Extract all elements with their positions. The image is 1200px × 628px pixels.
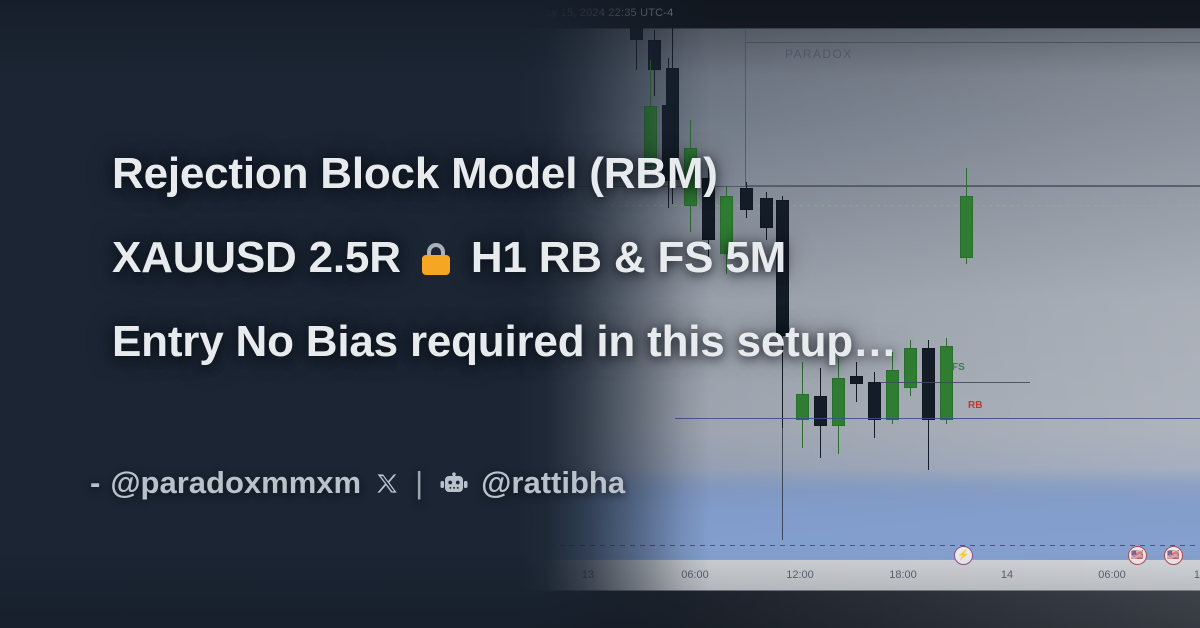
rattibha-share-card: PARADOX FS RB ⚡🇺🇸🇺🇸 1306:0012:0018:00140…: [0, 0, 1200, 628]
attribution: - @paradoxmmxm |: [90, 465, 625, 501]
headline-line-1: Rejection Block Model (RBM): [112, 132, 1172, 216]
headline-line-2-b: H1 RB & FS 5M: [471, 233, 786, 282]
text-layer: Rejection Block Model (RBM) XAUUSD 2.5R …: [0, 0, 1200, 628]
headline-line-2: XAUUSD 2.5R H1 RB & FS 5M: [112, 216, 1172, 300]
lock-body: [422, 255, 450, 275]
lock-icon: [419, 242, 453, 276]
page-title: Rejection Block Model (RBM) XAUUSD 2.5R …: [112, 132, 1172, 384]
author-handle[interactable]: @paradoxmmxm: [110, 465, 361, 501]
robot-icon: [439, 470, 469, 496]
headline-line-2-a: XAUUSD 2.5R: [112, 233, 401, 282]
attribution-dash: -: [90, 465, 100, 501]
service-handle[interactable]: @rattibha: [481, 465, 625, 501]
x-logo-icon: [375, 470, 401, 496]
headline-line-3: Entry No Bias required in this setup…: [112, 300, 1172, 384]
attribution-separator: |: [415, 465, 423, 501]
